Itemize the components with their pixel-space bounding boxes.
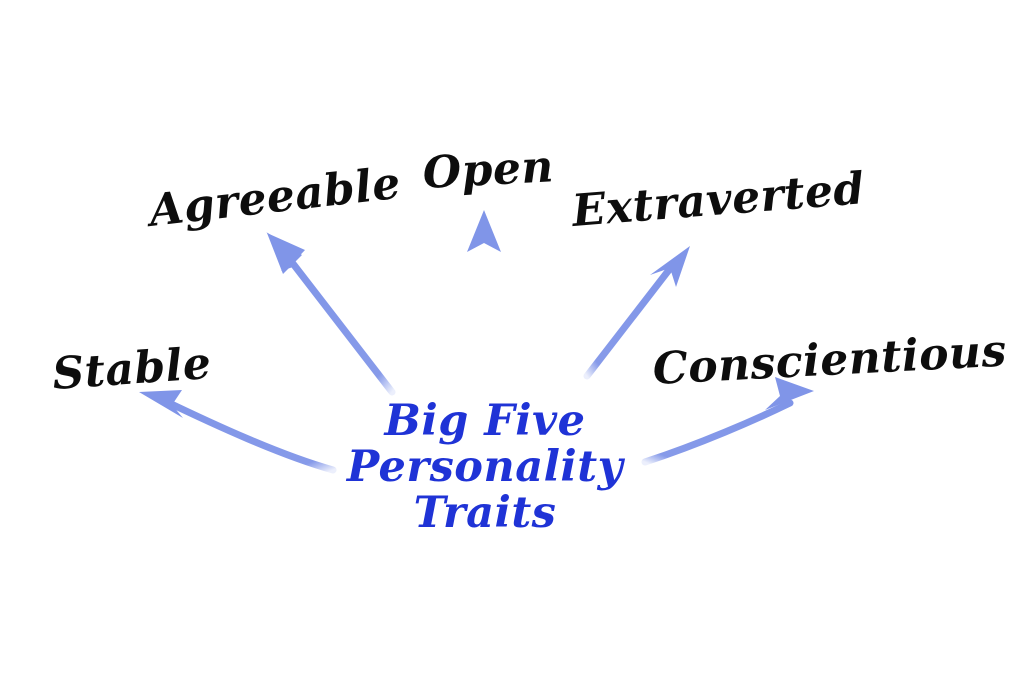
center-title-line-2: Personality (320, 444, 650, 490)
arrow-to-open (467, 210, 501, 366)
center-title-line-3: Traits (320, 490, 650, 536)
arrow-to-agreeable (266, 232, 392, 392)
trait-label-conscientious: Conscientious (652, 330, 1008, 392)
trait-label-extraverted: Extraverted (571, 167, 867, 234)
diagram-canvas: Agreeable Open Extraverted Stable Consci… (0, 0, 1024, 689)
trait-label-agreeable: Agreeable (147, 162, 403, 234)
arrow-to-stable (139, 390, 333, 470)
trait-label-open: Open (422, 145, 555, 196)
center-title-line-1: Big Five (320, 398, 650, 444)
center-title: Big Five Personality Traits (320, 398, 650, 536)
trait-label-stable: Stable (51, 342, 213, 397)
